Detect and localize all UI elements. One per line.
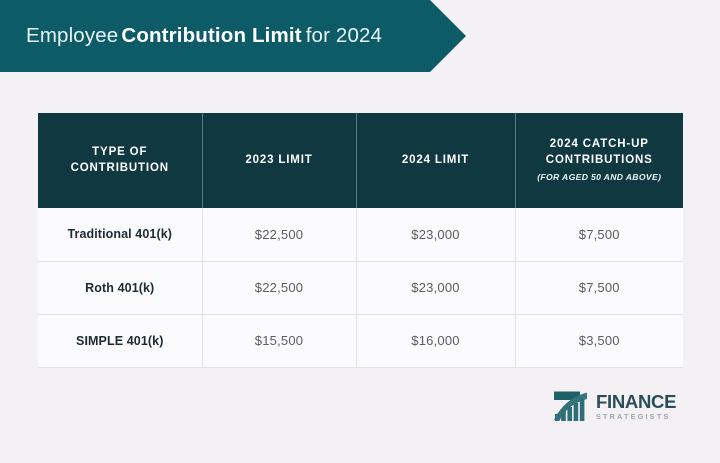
bar-chart-arrow-icon [553,390,589,422]
cell-catch-up-2024: $7,500 [515,208,683,261]
contribution-limits-table: TYPE OF CONTRIBUTION 2023 LIMIT 2024 LIM… [38,113,683,368]
cell-limit-2023: $22,500 [202,208,356,261]
cell-limit-2023: $22,500 [202,261,356,314]
table-header-row: TYPE OF CONTRIBUTION 2023 LIMIT 2024 LIM… [38,113,683,208]
page-title-lead: Employee [26,24,118,48]
cell-type: Traditional 401(k) [38,208,202,261]
header-banner: Employee Contribution Limit for 2024 [0,0,466,72]
cell-limit-2023: $15,500 [202,314,356,367]
cell-limit-2024: $23,000 [356,261,515,314]
table-row: Traditional 401(k) $22,500 $23,000 $7,50… [38,208,683,261]
table-row: SIMPLE 401(k) $15,500 $16,000 $3,500 [38,314,683,367]
cell-type: Roth 401(k) [38,261,202,314]
cell-catch-up-2024: $3,500 [515,314,683,367]
cell-catch-up-2024: $7,500 [515,261,683,314]
column-header-catch-up-main: 2024 CATCH-UP CONTRIBUTIONS [546,138,653,166]
brand-wordmark: FINANCE STRATEGISTS [596,392,676,421]
brand-name: FINANCE [596,393,676,412]
table-body: Traditional 401(k) $22,500 $23,000 $7,50… [38,208,683,367]
brand-tagline: STRATEGISTS [596,413,676,420]
column-header-limit-2024: 2024 LIMIT [356,113,515,208]
cell-limit-2024: $16,000 [356,314,515,367]
brand-logo: FINANCE STRATEGISTS [553,390,676,422]
page-title: Employee Contribution Limit for 2024 [26,0,382,72]
column-header-catch-up-note: (FOR AGED 50 AND ABOVE) [524,172,676,184]
table-header: TYPE OF CONTRIBUTION 2023 LIMIT 2024 LIM… [38,113,683,208]
column-header-limit-2023: 2023 LIMIT [202,113,356,208]
cell-limit-2024: $23,000 [356,208,515,261]
column-header-catch-up-2024: 2024 CATCH-UP CONTRIBUTIONS (FOR AGED 50… [515,113,683,208]
page-title-emphasis: Contribution Limit [118,24,305,48]
page-title-trail: for 2024 [306,24,382,48]
table-row: Roth 401(k) $22,500 $23,000 $7,500 [38,261,683,314]
column-header-type: TYPE OF CONTRIBUTION [38,113,202,208]
cell-type: SIMPLE 401(k) [38,314,202,367]
